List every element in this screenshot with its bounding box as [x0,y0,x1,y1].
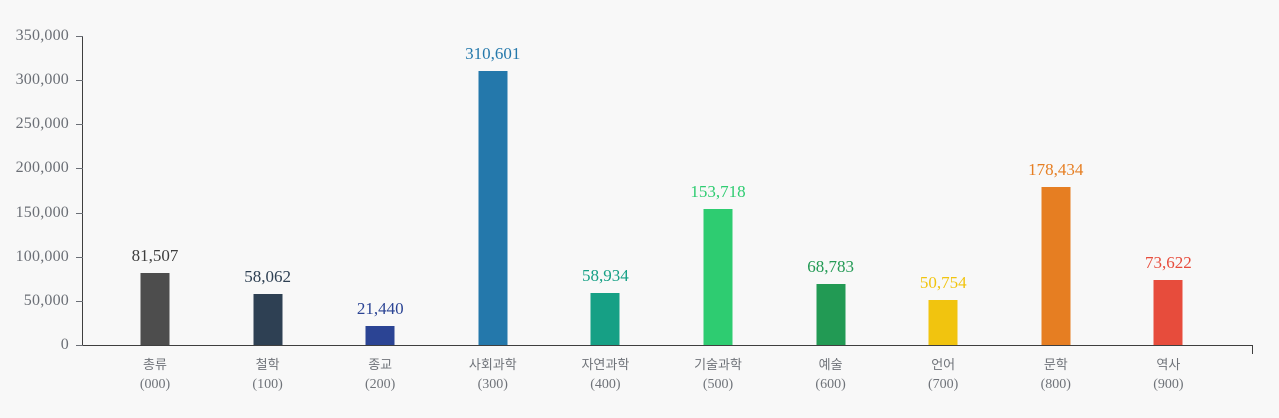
category-code: (200) [365,375,395,395]
y-axis-tick-label: 0 [61,336,76,354]
category-code: (400) [581,375,629,395]
bar-value-label: 50,754 [920,273,967,293]
y-axis-tick [76,80,83,81]
y-axis-tick-label: 150,000 [16,204,76,222]
bar-value-label: 178,434 [1028,160,1083,180]
category-name: 철학 [256,357,280,372]
bar-value-label: 73,622 [1145,253,1192,273]
x-axis-category-label: 종교(200) [365,355,395,395]
category-name: 역사 [1156,357,1180,372]
bar-value-label: 81,507 [132,246,179,266]
bar-value-label: 21,440 [357,299,404,319]
y-axis-tick [76,124,83,125]
category-name: 자연과학 [581,357,629,372]
x-axis-category-label: 철학(100) [252,355,282,395]
y-axis-tick-label: 100,000 [16,248,76,266]
category-name: 문학 [1044,357,1068,372]
y-axis-line [82,36,83,345]
bar[interactable]: 81,507 [141,273,170,345]
category-name: 종교 [368,357,392,372]
y-axis-tick [76,301,83,302]
bar[interactable]: 310,601 [478,71,507,345]
y-axis-tick-label: 300,000 [16,71,76,89]
x-axis-category-label: 자연과학(400) [581,355,629,395]
y-axis-tick [76,345,83,346]
bar[interactable]: 50,754 [929,300,958,345]
bar[interactable]: 58,934 [591,293,620,345]
category-name: 기술과학 [694,357,742,372]
y-axis-tick-label: 250,000 [16,115,76,133]
category-code: (300) [469,375,517,395]
category-name: 언어 [931,357,955,372]
bar[interactable]: 21,440 [366,326,395,345]
x-axis-end-tick [1252,345,1253,354]
x-axis-category-label: 언어(700) [928,355,958,395]
bar-value-label: 68,783 [807,257,854,277]
y-axis-tick [76,36,83,37]
y-axis-tick [76,168,83,169]
bar-chart: 350,000300,000250,000200,000150,000100,0… [0,0,1279,418]
bar-value-label: 153,718 [690,182,745,202]
category-code: (600) [815,375,845,395]
y-axis-tick-label: 350,000 [16,27,76,45]
bar-value-label: 310,601 [465,44,520,64]
x-axis-line [82,345,1253,346]
y-axis-tick [76,213,83,214]
category-name: 총류 [143,357,167,372]
x-axis-category-label: 기술과학(500) [694,355,742,395]
bar[interactable]: 178,434 [1041,187,1070,345]
y-axis-tick [76,257,83,258]
category-code: (700) [928,375,958,395]
category-name: 사회과학 [469,357,517,372]
bar-value-label: 58,062 [244,267,291,287]
category-name: 예술 [819,357,843,372]
x-axis-category-label: 총류(000) [140,355,170,395]
category-code: (500) [694,375,742,395]
x-axis-category-label: 사회과학(300) [469,355,517,395]
x-axis-category-label: 예술(600) [815,355,845,395]
x-axis-category-label: 역사(900) [1153,355,1183,395]
x-axis-category-label: 문학(800) [1041,355,1071,395]
category-code: (800) [1041,375,1071,395]
bar[interactable]: 153,718 [704,209,733,345]
bar[interactable]: 73,622 [1154,280,1183,345]
bar[interactable]: 68,783 [816,284,845,345]
bar[interactable]: 58,062 [253,294,282,345]
category-code: (000) [140,375,170,395]
y-axis-tick-label: 50,000 [24,292,76,310]
y-axis-tick-label: 200,000 [16,159,76,177]
category-code: (900) [1153,375,1183,395]
category-code: (100) [252,375,282,395]
bar-value-label: 58,934 [582,266,629,286]
